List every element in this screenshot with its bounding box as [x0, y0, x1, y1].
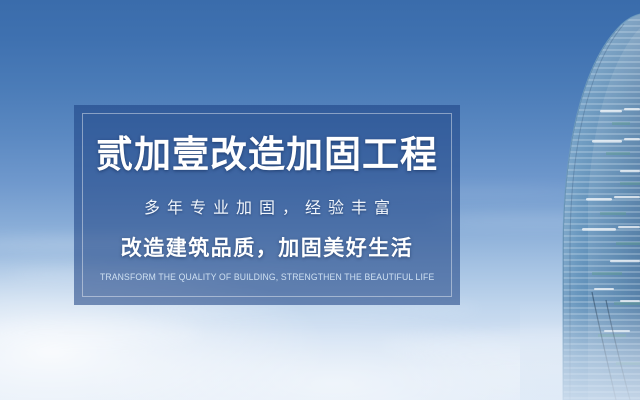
slogan: 改造建筑品质，加固美好生活: [121, 232, 414, 262]
subtitle: 多年专业加固，经验丰富: [137, 194, 397, 218]
hero-banner: 贰加壹改造加固工程 多年专业加固，经验丰富 改造建筑品质，加固美好生活 TRAN…: [0, 0, 640, 400]
panel-content: 贰加壹改造加固工程 多年专业加固，经验丰富 改造建筑品质，加固美好生活 TRAN…: [74, 105, 460, 305]
headline-panel: 贰加壹改造加固工程 多年专业加固，经验丰富 改造建筑品质，加固美好生活 TRAN…: [74, 105, 460, 305]
page-title: 贰加壹改造加固工程: [96, 135, 438, 176]
slogan-english: TRANSFORM THE QUALITY OF BUILDING, STREN…: [100, 272, 434, 282]
